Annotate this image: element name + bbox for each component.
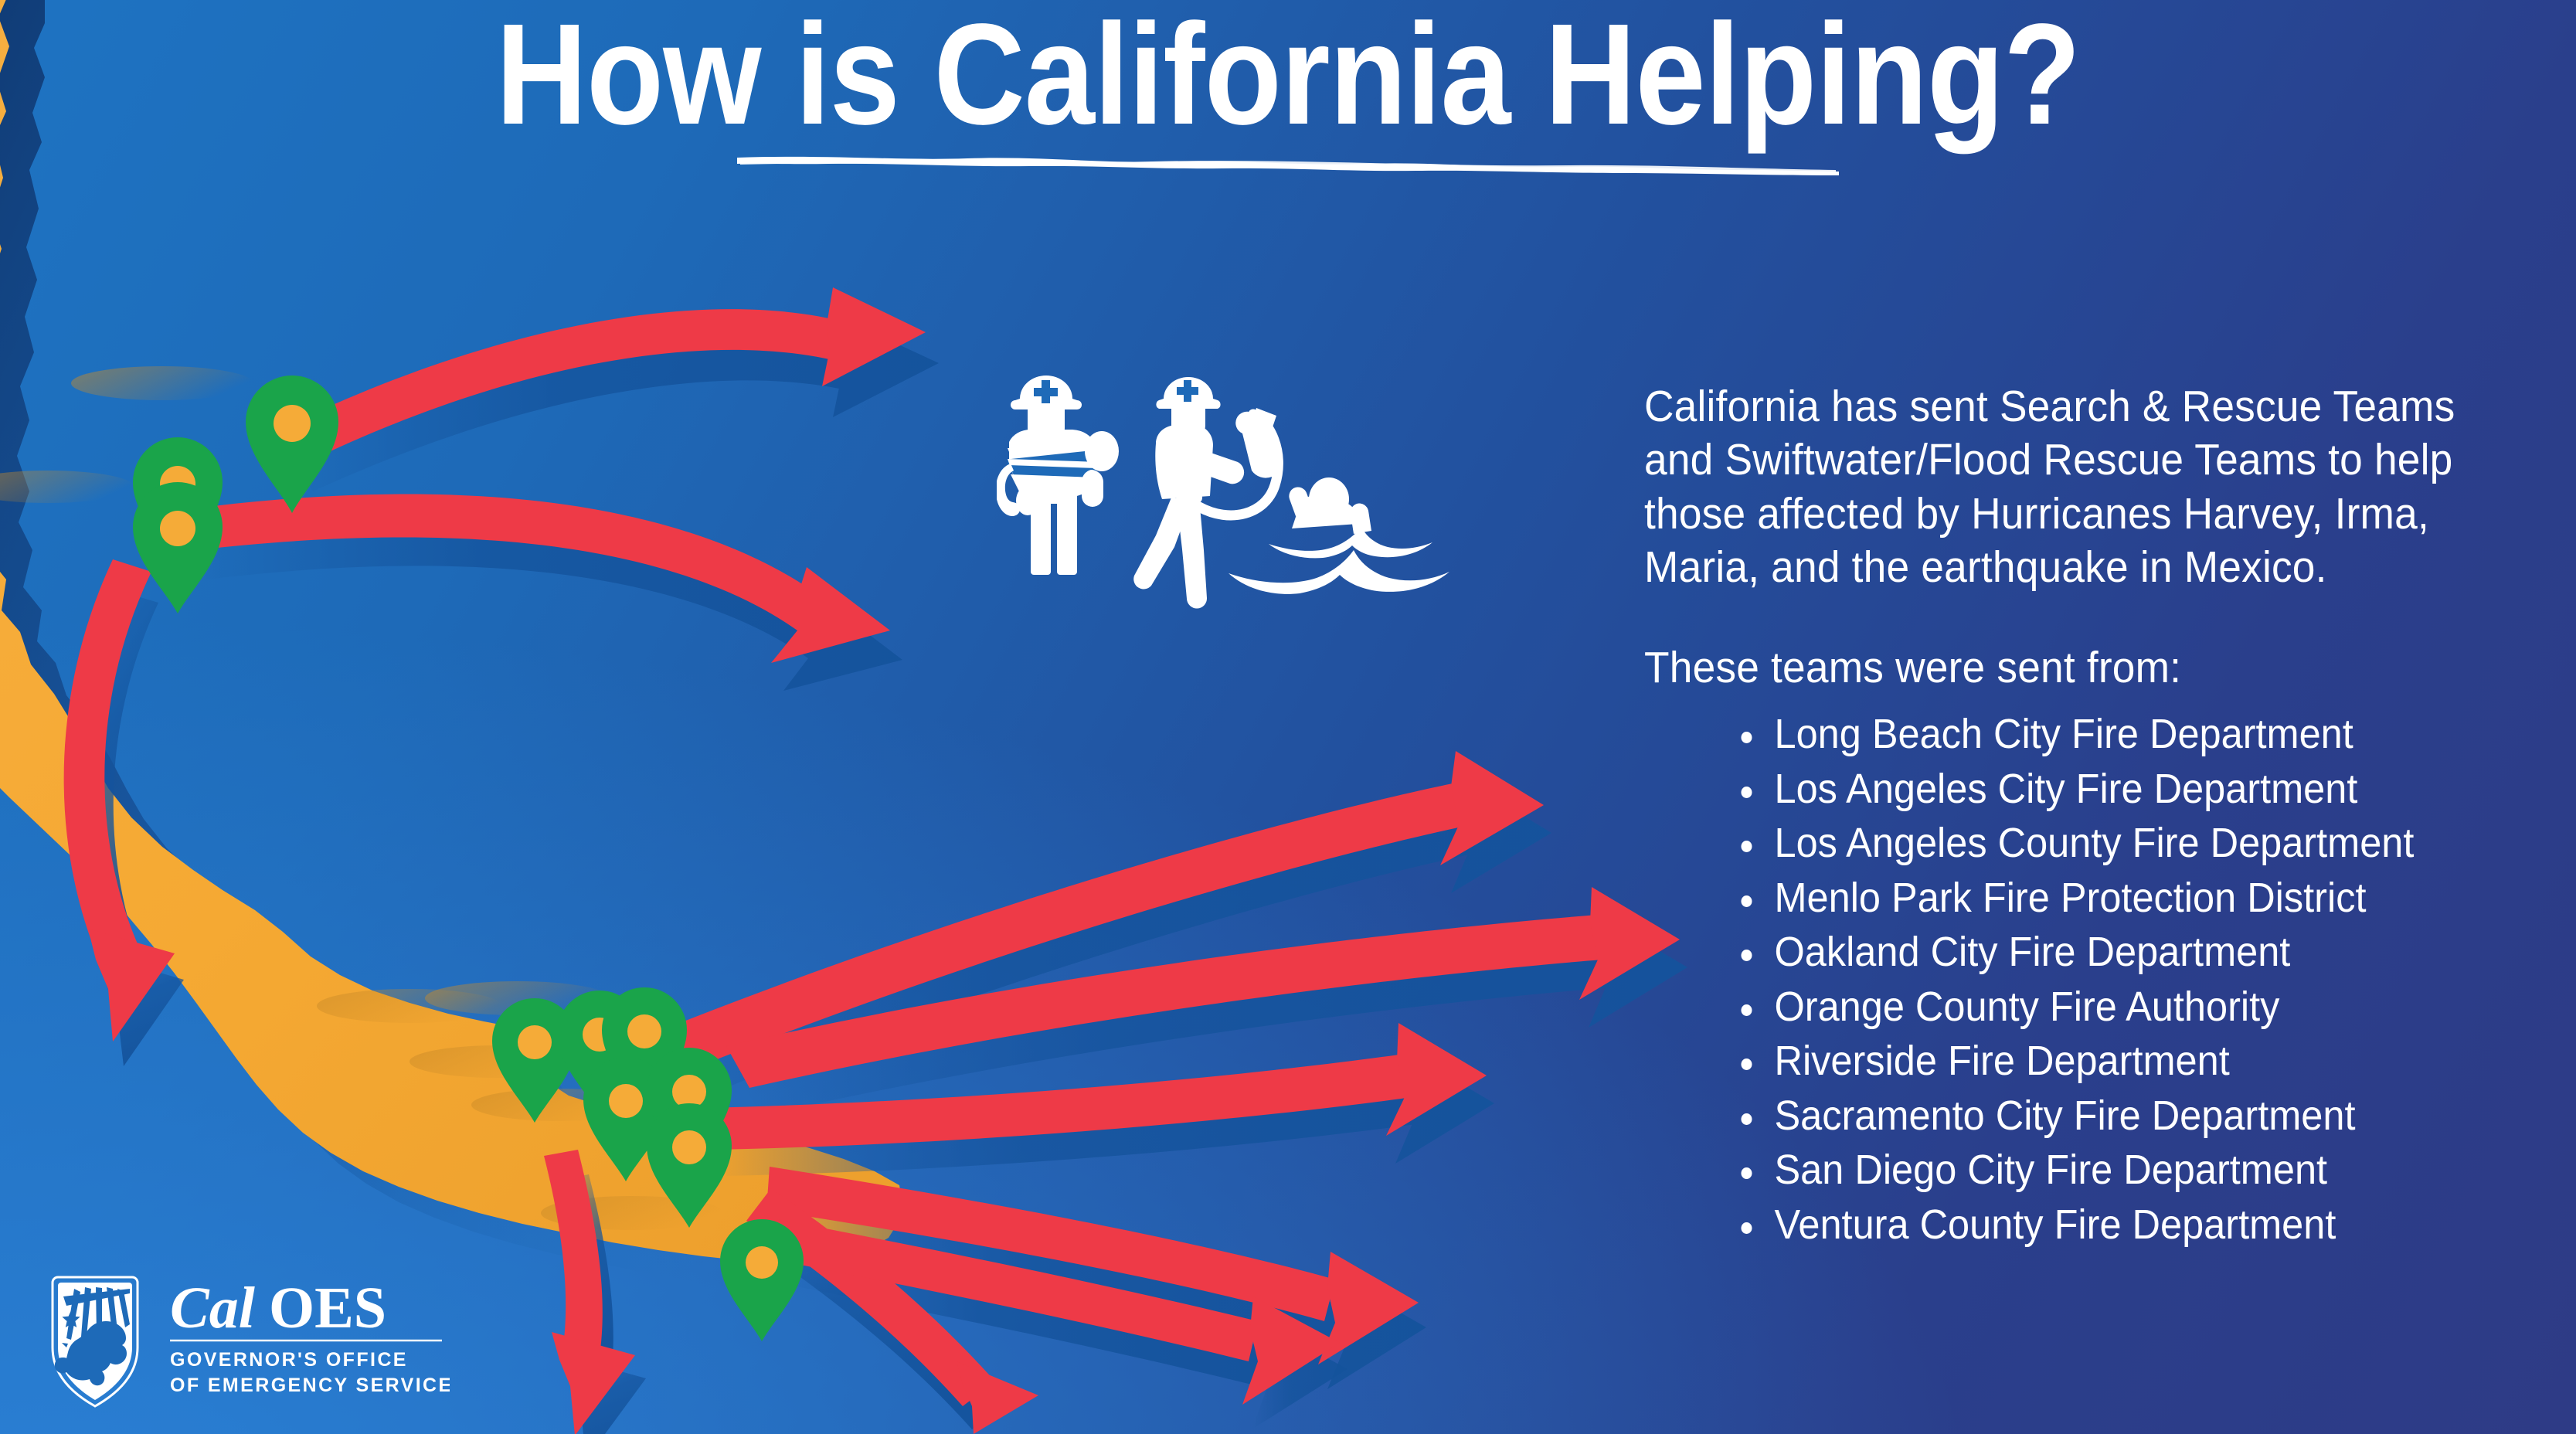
list-item: Riverside Fire Department: [1735, 1040, 2503, 1082]
list-item: San Diego City Fire Department: [1735, 1149, 2503, 1191]
logo-tagline-line1: GOVERNOR'S OFFICE: [170, 1349, 408, 1371]
map-pin-icon: [720, 1219, 804, 1341]
logo-wordmark-oes: OES: [269, 1276, 386, 1341]
list-item: Oakland City Fire Department: [1735, 931, 2503, 973]
swiftwater-rescue-throw-line-icon: [1133, 377, 1449, 609]
lead-in-text: These teams were sent from:: [1644, 641, 2496, 695]
list-item: Menlo Park Fire Protection District: [1735, 877, 2503, 919]
map-pin-icon: [647, 1103, 732, 1228]
cal-oes-logo: Cal OES GOVERNOR'S OFFICE OF EMERGENCY S…: [40, 1266, 450, 1420]
list-item: Los Angeles County Fire Department: [1735, 822, 2503, 864]
california-bear-shield-icon: [53, 1277, 138, 1406]
list-item: Sacramento City Fire Department: [1735, 1095, 2503, 1137]
list-item: Los Angeles City Fire Department: [1735, 768, 2503, 810]
list-item: Long Beach City Fire Department: [1735, 713, 2503, 755]
list-item: Orange County Fire Authority: [1735, 986, 2503, 1028]
map-pin-icon: [246, 375, 338, 513]
infographic-canvas: How is California Helping?: [0, 0, 2576, 1434]
intro-paragraph: California has sent Search & Rescue Team…: [1644, 380, 2496, 594]
logo-wordmark-cal: Cal: [170, 1276, 255, 1341]
map-pin-icon: [133, 482, 223, 613]
rescue-icon-row: [997, 362, 1553, 624]
text-column: California has sent Search & Rescue Team…: [1644, 380, 2556, 1258]
title-brushstroke-underline: [736, 151, 1840, 178]
logo-tagline-line2: OF EMERGENCY SERVICES: [170, 1375, 450, 1396]
title-block: How is California Helping?: [0, 5, 2576, 178]
page-title: How is California Helping?: [155, 5, 2421, 145]
team-list: Long Beach City Fire Department Los Ange…: [1644, 713, 2556, 1245]
search-and-rescue-carry-icon: [997, 375, 1119, 575]
list-item: Ventura County Fire Department: [1735, 1204, 2503, 1245]
